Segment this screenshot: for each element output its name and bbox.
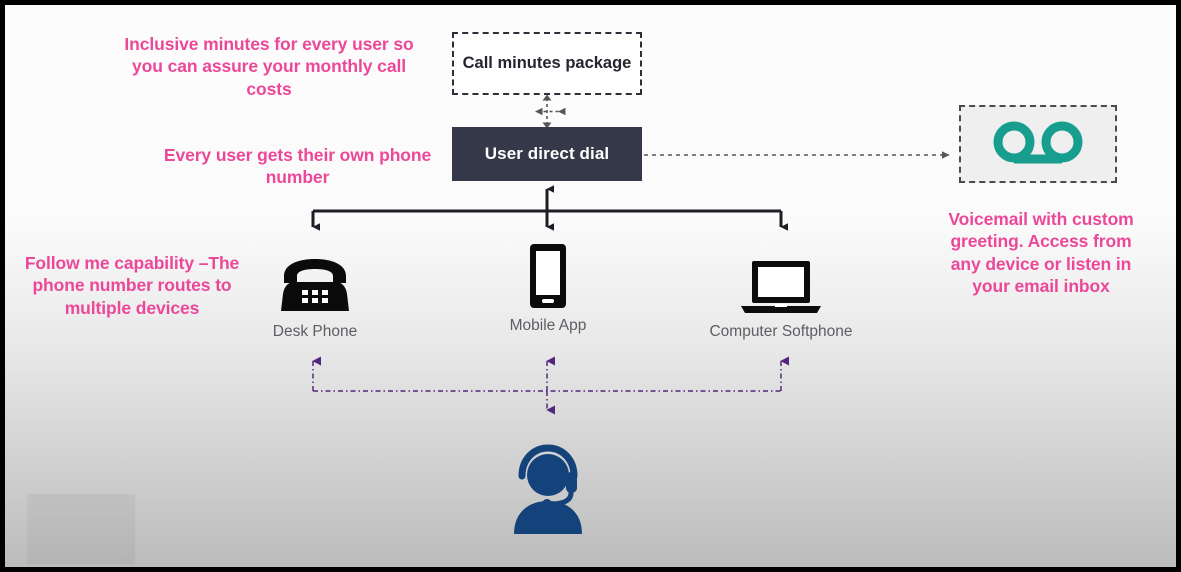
user-direct-dial-box: User direct dial [452, 127, 642, 181]
device-label-desk-phone: Desk Phone [230, 323, 400, 341]
note-follow-me: Follow me capability –The phone number r… [13, 252, 251, 319]
person-with-headset-icon [500, 440, 595, 540]
note-voicemail: Voicemail with custom greeting. Access f… [943, 208, 1139, 298]
note-call-minutes: Inclusive minutes for every user so you … [109, 33, 429, 100]
call-minutes-package-label: Call minutes package [463, 53, 632, 74]
background-patch [27, 494, 135, 564]
device-mobile-app: Mobile App [463, 247, 633, 335]
voicemail-tape-icon [988, 121, 1088, 167]
device-computer-softphone: Computer Softphone [696, 253, 866, 341]
user-direct-dial-label: User direct dial [485, 144, 609, 164]
device-label-mobile-app: Mobile App [463, 317, 633, 335]
device-label-computer-softphone: Computer Softphone [696, 323, 866, 341]
mobile-phone-icon [463, 247, 633, 309]
call-minutes-package-box: Call minutes package [452, 32, 642, 95]
device-desk-phone: Desk Phone [230, 253, 400, 341]
laptop-icon [696, 253, 866, 315]
note-direct-dial: Every user gets their own phone number [145, 144, 450, 189]
voicemail-box [959, 105, 1117, 183]
desk-phone-icon [230, 253, 400, 315]
diagram-canvas: Inclusive minutes for every user so you … [0, 0, 1181, 572]
